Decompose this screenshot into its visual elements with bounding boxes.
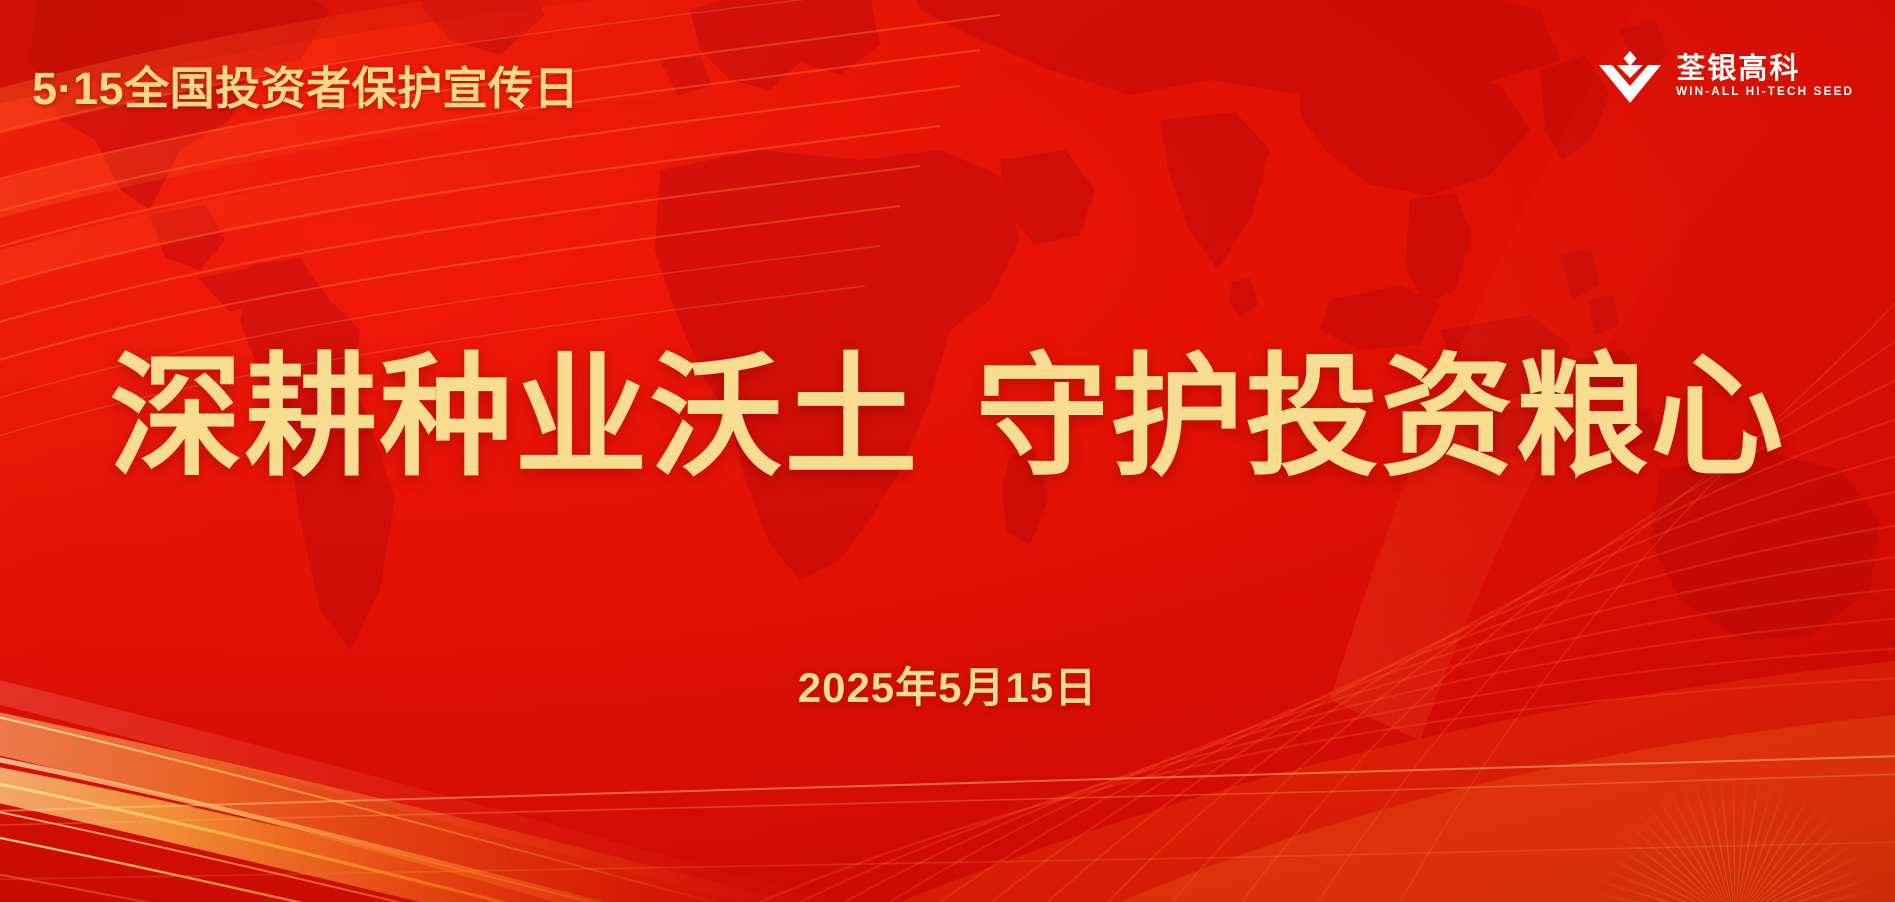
company-name-cn: 荃银高科 — [1676, 55, 1851, 84]
event-date: 2025年5月15日 — [0, 654, 1895, 715]
headline-part-2: 守护投资粮心 — [976, 344, 1786, 492]
win-all-chevron-logo-icon — [1599, 50, 1661, 104]
main-headline: 深耕种业沃土守护投资粮心 — [0, 347, 1895, 491]
sunburst-rays — [975, 162, 1895, 902]
headline-part-1: 深耕种业沃土 — [110, 344, 920, 492]
company-logo[interactable]: 荃银高科 WIN-ALL HI-TECH SEED — [1599, 50, 1851, 104]
campaign-eyebrow-title: 5·15全国投资者保护宣传日 — [32, 52, 579, 117]
logo-text-block: 荃银高科 WIN-ALL HI-TECH SEED — [1676, 55, 1851, 99]
company-name-en: WIN-ALL HI-TECH SEED — [1676, 87, 1854, 99]
promotional-banner: 5·15全国投资者保护宣传日 荃银高科 WIN-ALL HI-TECH SEED… — [0, 0, 1895, 902]
